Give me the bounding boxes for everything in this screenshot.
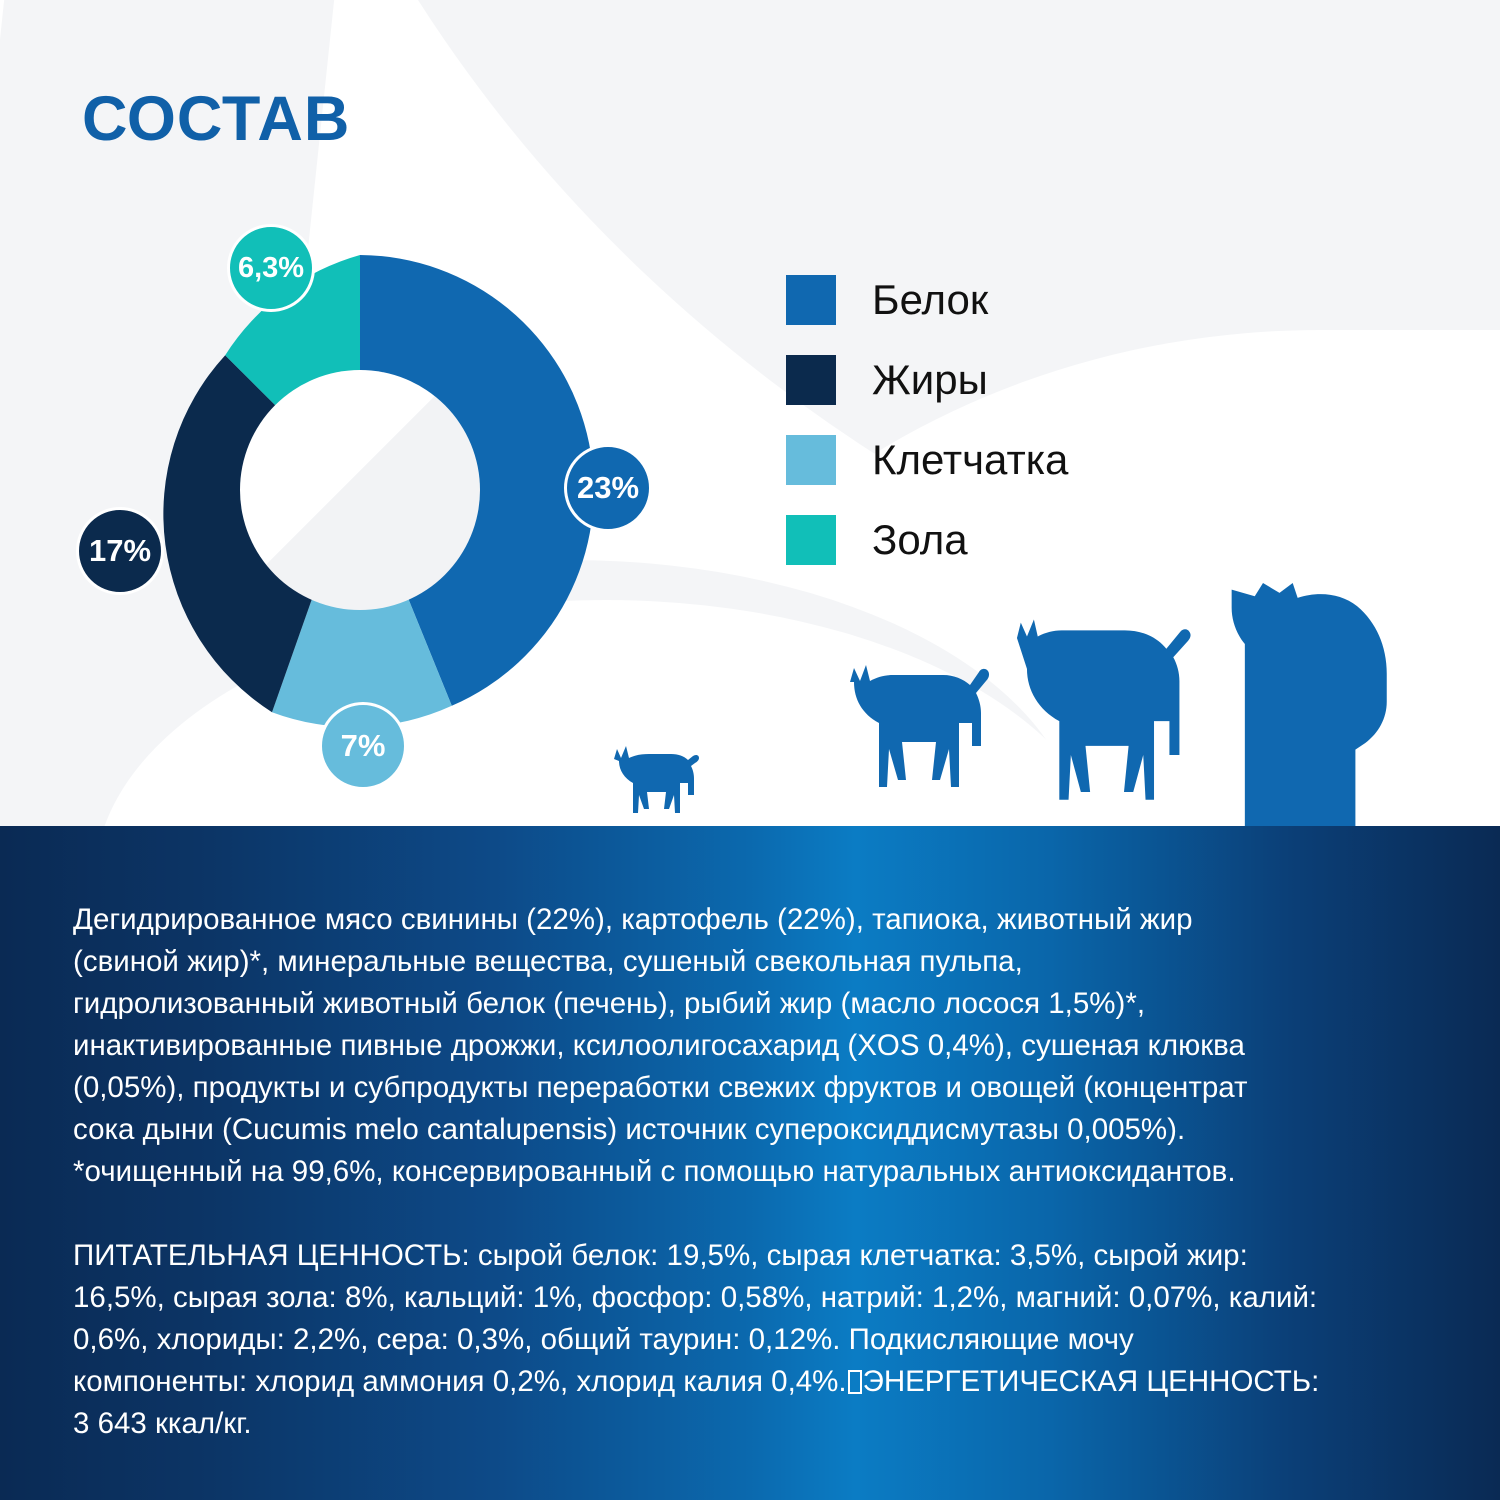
infographic-page: СОСТАВ 23% 6,3% 17% 7% Белок Жиры Кл xyxy=(0,0,1500,1500)
nutrition-line-2: 16,5%, сырая зола: 8%, кальций: 1%, фосф… xyxy=(73,1277,1429,1319)
page-title: СОСТАВ xyxy=(82,88,350,151)
chart-legend: Белок Жиры Клетчатка Зола xyxy=(786,260,1068,580)
nutrition-line-1: ПИТАТЕЛЬНАЯ ЦЕННОСТЬ: сырой белок: 19,5%… xyxy=(73,1235,1429,1277)
small-dog-silhouette xyxy=(614,746,699,813)
badge-fat-percent: 17% xyxy=(76,507,164,595)
composition-donut-chart xyxy=(125,255,595,725)
badge-protein-percent: 23% xyxy=(564,444,652,532)
missing-glyph-icon xyxy=(848,1370,862,1394)
composition-line-4: инактивированные пивные дрожжи, ксилооли… xyxy=(73,1025,1429,1067)
ingredients-text-block: Дегидрированное мясо свинины (22%), карт… xyxy=(73,899,1429,1445)
legend-item-protein: Белок xyxy=(786,260,1068,340)
badge-ash-percent: 6,3% xyxy=(227,224,315,312)
large-dog-silhouette xyxy=(1017,620,1191,800)
paragraph-spacer xyxy=(73,1193,1429,1235)
legend-swatch-fat xyxy=(786,355,836,405)
legend-swatch-protein xyxy=(786,275,836,325)
composition-line-6: сока дыни (Cucumis melo cantalupensis) и… xyxy=(73,1109,1429,1151)
composition-line-5: (0,05%), продукты и субпродукты перерабо… xyxy=(73,1067,1429,1109)
acidifying-components-text: компоненты: хлорид аммония 0,2%, хлорид … xyxy=(73,1365,847,1398)
legend-item-fiber: Клетчатка xyxy=(786,420,1068,500)
legend-swatch-fiber xyxy=(786,435,836,485)
dogs-svg xyxy=(580,545,1500,830)
dog-size-silhouettes xyxy=(580,545,1500,830)
legend-item-fat: Жиры xyxy=(786,340,1068,420)
giant-dog-silhouette xyxy=(1232,583,1463,830)
composition-footnote: *очищенный на 99,6%, консервированный с … xyxy=(73,1151,1429,1193)
composition-line-1: Дегидрированное мясо свинины (22%), карт… xyxy=(73,899,1429,941)
legend-label-protein: Белок xyxy=(872,279,988,321)
energy-line: 3 643 ккал/кг. xyxy=(73,1403,1429,1445)
nutrition-line-3: 0,6%, хлориды: 2,2%, сера: 0,3%, общий т… xyxy=(73,1319,1429,1361)
badge-fiber-percent: 7% xyxy=(319,702,407,790)
ingredients-panel: Дегидрированное мясо свинины (22%), карт… xyxy=(0,826,1500,1500)
medium-dog-silhouette xyxy=(850,665,989,787)
composition-line-3: гидролизованный животный белок (печень),… xyxy=(73,983,1429,1025)
nutrition-line-4: компоненты: хлорид аммония 0,2%, хлорид … xyxy=(73,1361,1429,1403)
legend-label-fiber: Клетчатка xyxy=(872,439,1068,481)
composition-line-2: (свиной жир)*, минеральные вещества, суш… xyxy=(73,941,1429,983)
energy-value-heading: ЭНЕРГЕТИЧЕСКАЯ ЦЕННОСТЬ: xyxy=(863,1365,1320,1398)
donut-center-hole xyxy=(240,370,480,610)
legend-label-fat: Жиры xyxy=(872,359,988,401)
